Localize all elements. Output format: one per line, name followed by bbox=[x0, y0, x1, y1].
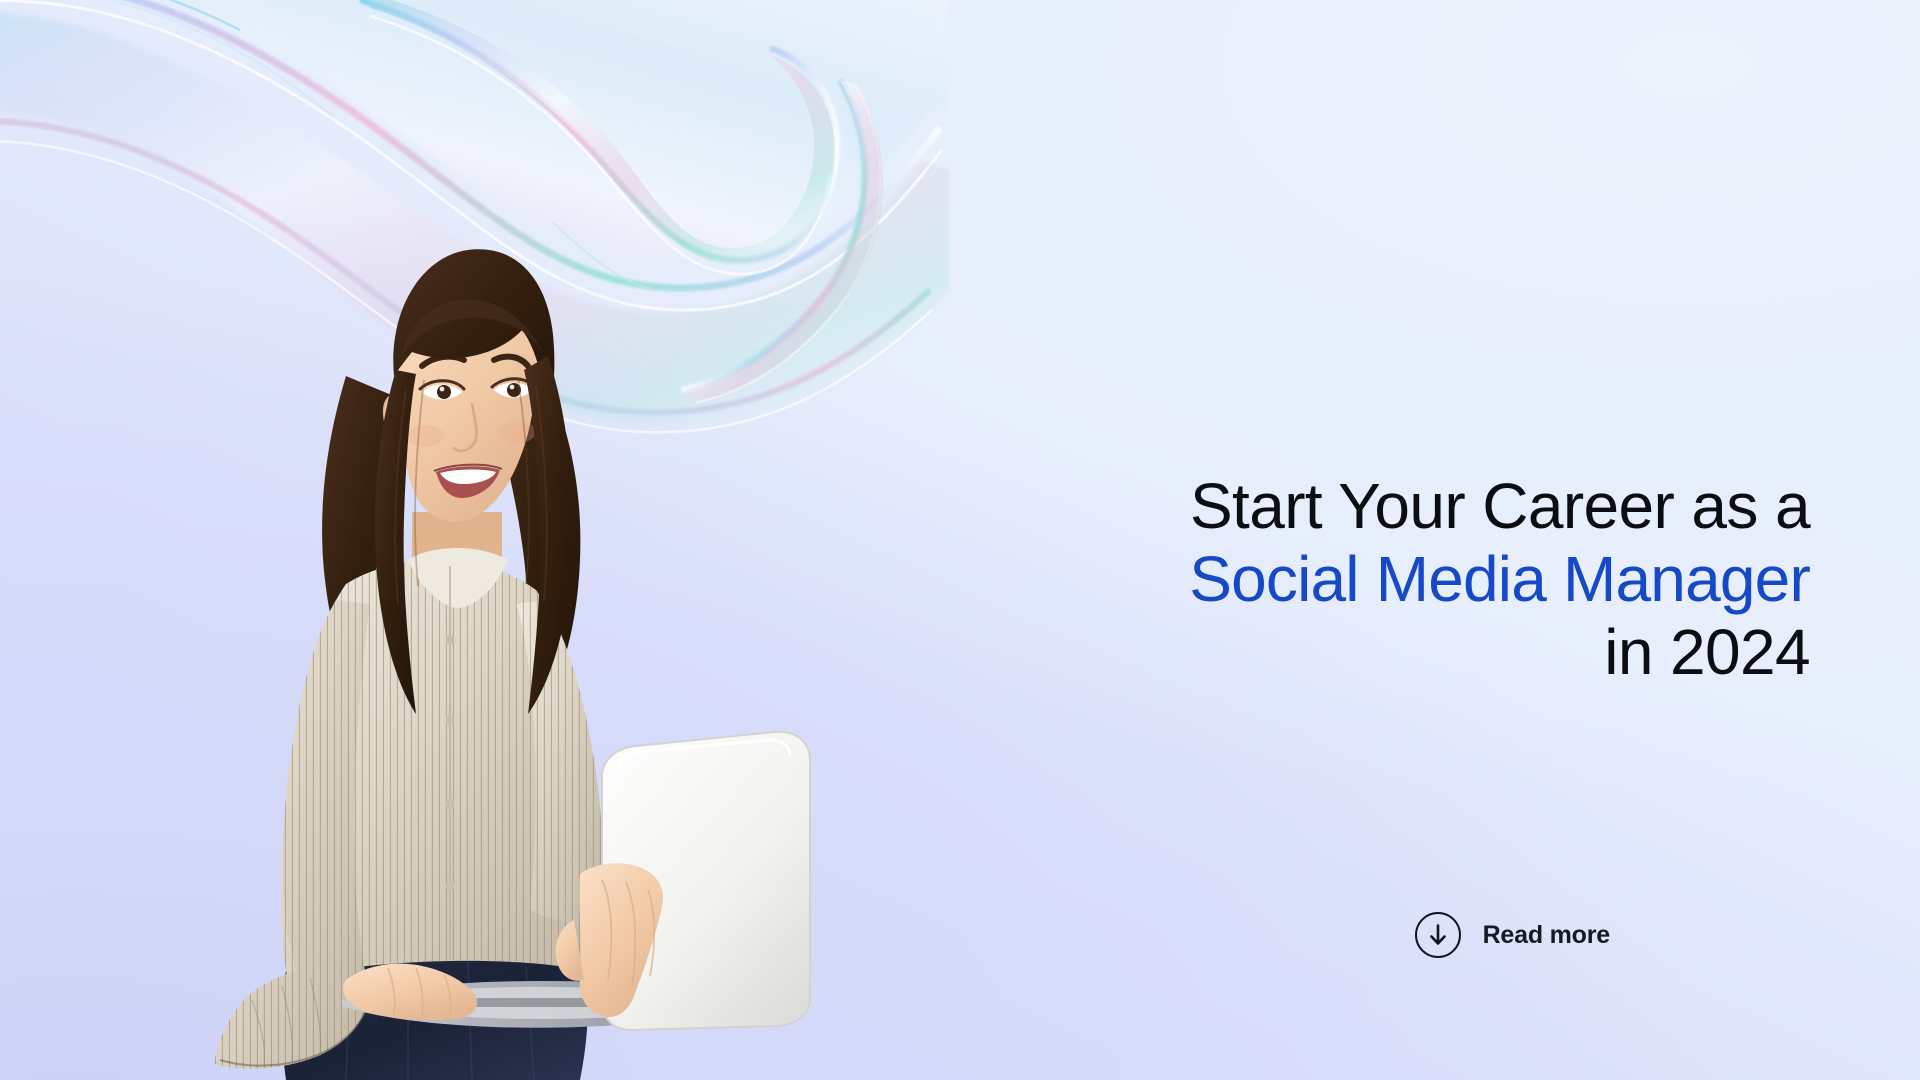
read-more-label: Read more bbox=[1483, 921, 1610, 950]
right-hand bbox=[579, 863, 663, 1017]
blouse-stripes bbox=[281, 558, 596, 980]
hair-top bbox=[393, 249, 554, 420]
iridescent-glass-ribbon bbox=[0, 0, 950, 520]
skirt bbox=[282, 956, 588, 1080]
headline-line-1: Start Your Career as a bbox=[950, 470, 1810, 543]
laptop-lid bbox=[602, 732, 810, 1030]
left-hand bbox=[343, 964, 477, 1020]
headline-line-2-accent: Social Media Manager bbox=[950, 543, 1810, 616]
headline-line-3: in 2024 bbox=[950, 616, 1810, 689]
hero-banner: Start Your Career as a Social Media Mana… bbox=[0, 0, 1920, 1080]
read-more-button[interactable]: Read more bbox=[1415, 912, 1610, 958]
face bbox=[400, 272, 536, 522]
page-title: Start Your Career as a Social Media Mana… bbox=[950, 470, 1810, 689]
blouse bbox=[281, 558, 596, 980]
woman-with-laptop bbox=[150, 180, 830, 1080]
laptop-base bbox=[342, 981, 728, 1028]
arrow-down-circle-icon[interactable] bbox=[1415, 912, 1461, 958]
headline-block: Start Your Career as a Social Media Mana… bbox=[950, 470, 1810, 689]
